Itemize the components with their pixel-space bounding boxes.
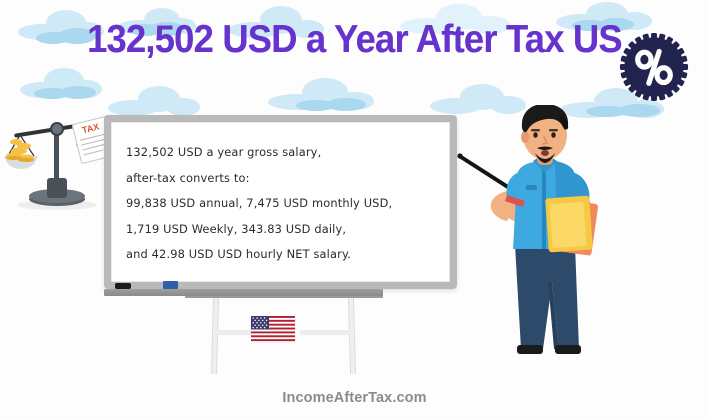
folder-icons (545, 196, 598, 256)
site-name: IncomeAfterTax.com (282, 390, 426, 406)
pointer-stick (457, 153, 511, 189)
cloud-7 (108, 86, 200, 116)
stand-leg-left (211, 298, 219, 374)
page-title-container: 132,502 USD a Year After Tax US (0, 18, 709, 62)
whiteboard: 132,502 USD a year gross salary, after-t… (104, 115, 457, 289)
whiteboard-line-4: 1,719 USD Weekly, 343.83 USD daily, (126, 217, 449, 243)
cloud-12 (268, 78, 374, 110)
stand-leg-right (348, 298, 356, 374)
whiteboard-line-1: 132,502 USD a year gross salary, (126, 140, 449, 166)
cloud-13 (296, 98, 366, 112)
marker-icon (115, 283, 131, 289)
whiteboard-line-2: after-tax converts to: (126, 166, 449, 192)
balance-scale-icon: TAX (2, 106, 112, 212)
cloud-6 (34, 86, 96, 100)
us-flag-icon (251, 316, 295, 341)
eraser-icon (163, 281, 178, 289)
whiteboard-line-3: 99,838 USD annual, 7,475 USD monthly USD… (126, 191, 449, 217)
stand-crossbar-right (300, 330, 352, 335)
teacher-presenter-illustration (455, 105, 635, 360)
cloud-5 (20, 68, 102, 98)
whiteboard-line-5: and 42.98 USD USD hourly NET salary. (126, 242, 449, 268)
footer: IncomeAfterTax.com (0, 389, 709, 407)
whiteboard-tray (104, 289, 383, 296)
percent-badge-icon (617, 30, 691, 104)
page-root: 132,502 USD a Year After Tax US (0, 0, 709, 419)
page-title: 132,502 USD a Year After Tax US (87, 18, 622, 62)
whiteboard-content: 132,502 USD a year gross salary, after-t… (111, 122, 450, 282)
